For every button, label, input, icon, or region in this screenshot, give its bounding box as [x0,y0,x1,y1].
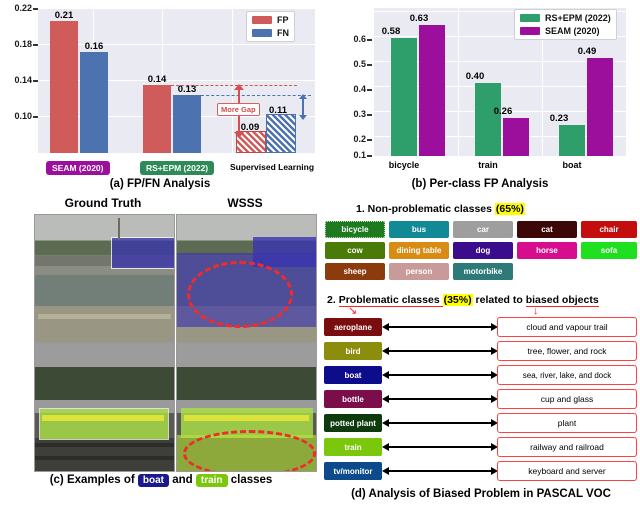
panel-c-tag-boat: boat [138,474,169,487]
gap-arrow-blue-head-up [299,94,307,99]
panel-d-section2-percent: (35%) [443,294,473,306]
legend-item-rsepm: RS+EPM (2022) [520,13,611,23]
bar-b-train-seam [503,118,529,156]
panel-a-ytick-1: 0.18 [0,39,32,49]
class-chip-bus: bus [389,221,449,238]
value-b-boat-seam: 0.49 [569,46,605,57]
more-gap-arrow-red-head-up [234,84,244,90]
legend-swatch-fn [252,29,272,37]
bias-arrow-train [388,446,492,448]
legend-item-fn: FN [252,28,289,38]
bias-arrow-tv-monitor [388,470,492,472]
more-gap-annotation: More Gap [217,103,260,116]
class-chip-car: car [453,221,513,238]
bias-arrow-boat [388,374,492,376]
xlabel-a-seam-tag: SEAM (2020) [46,161,110,175]
panel-d-section1-title: 1. Non-problematic classes (65%) [356,203,525,215]
image-train-ground-truth [34,343,175,472]
legend-label-seam: SEAM (2020) [545,26,600,36]
legend-item-fp: FP [252,15,289,25]
panel-a-ytick-3: 0.10 [0,111,32,121]
panel-c-caption-post: classes [228,474,273,486]
legend-swatch-rsepm [520,14,540,22]
panel-b-caption: (b) Per-class FP Analysis [320,178,640,190]
problem-class-bottle: bottle [324,390,382,408]
panel-a-fp-fn-analysis: More Gap 0.22 0.18 0.14 0.10 0.21 0.16 0… [0,0,320,192]
problem-class-bird: bird [324,342,382,360]
value-b-bicycle-seam: 0.63 [401,13,437,24]
value-b-train-seam: 0.26 [485,106,521,117]
panel-b-ytick-5: 0.1 [332,150,366,160]
problem-class-potted-plant: potted plant [324,414,382,432]
problem-class-aeroplane: aeroplane [324,318,382,336]
legend-swatch-fp [252,16,272,24]
class-chip-dog: dog [453,242,513,259]
xlabel-a-supervised: Supervised Learning [224,162,320,172]
value-a-sup-fp: 0.09 [232,122,268,133]
train-wsss-highlight-ellipse [183,430,317,472]
panel-c-header-wsss: WSSS [175,196,315,210]
class-chip-motorbike: motorbike [453,263,513,280]
legend-label-fn: FN [277,28,289,38]
panel-c-examples: Ground Truth WSSS (c) [0,196,322,508]
class-chip-horse: horse [517,242,577,259]
legend-swatch-seam [520,27,540,35]
value-b-bicycle-rsepm: 0.58 [373,26,409,37]
class-chip-cat: cat [517,221,577,238]
panel-d-bias-analysis: 1. Non-problematic classes (65%) bicycle… [322,196,640,508]
class-chip-cow: cow [325,242,385,259]
panel-d-section2-t3: related to [473,294,526,306]
bias-object-bird: tree, flower, and rock [497,341,637,361]
panel-c-header-ground-truth: Ground Truth [33,196,173,210]
bias-arrow-bottle [388,398,492,400]
legend-label-rsepm: RS+EPM (2022) [545,13,611,23]
red-pointer-arrow-left: ↘ [348,306,357,317]
panel-d-caption: (d) Analysis of Biased Problem in PASCAL… [322,488,640,500]
panel-d-section2-t1: 2. [327,294,339,306]
bias-arrow-aeroplane [388,326,492,328]
xlabel-a-rsepm: RS+EPM (2022) [140,158,214,176]
class-chip-bicycle: bicycle [325,221,385,238]
problem-class-tv-monitor: tv/monitor [324,462,382,480]
class-chip-sheep: sheep [325,263,385,280]
panel-c-caption-pre: (c) Examples of [50,474,138,486]
bar-a-rsepm-fp [143,85,171,153]
xlabel-b-train: train [458,160,518,170]
bar-a-rsepm-fn [173,95,201,153]
panel-b-ytick-3: 0.3 [332,109,366,119]
value-a-sup-fn: 0.11 [260,105,296,116]
panel-a-ytick-2: 0.14 [0,75,32,85]
value-b-boat-rsepm: 0.23 [541,113,577,124]
gap-arrow-blue-head-down [299,115,307,120]
boat-wsss-mask-ship [253,237,316,267]
panel-b-ytick-1: 0.5 [332,59,366,69]
panel-d-section1-percent: (65%) [495,203,525,215]
class-chip-person: person [389,263,449,280]
problem-class-train: train [324,438,382,456]
bar-b-boat-seam [587,58,613,156]
bar-b-bicycle-rsepm [391,38,417,156]
gap-dash-line-fn [201,95,311,96]
panel-d-section1-prefix: 1. Non-problematic classes [356,203,495,215]
panel-a-legend: FP FN [246,11,295,42]
boat-gt-mask [111,237,174,269]
bias-arrow-bird [388,350,492,352]
problem-class-boat: boat [324,366,382,384]
bias-object-boat: sea, river, lake, and dock [497,365,637,385]
class-chip-dining-table: dining table [389,242,449,259]
bias-object-aeroplane: cloud and vapour trail [497,317,637,337]
train-gt-mask [39,408,169,440]
panel-b-ytick-4: 0.2 [332,134,366,144]
boat-wsss-highlight-ellipse [187,261,293,328]
bias-object-train: railway and railroad [497,437,637,457]
bar-b-bicycle-seam [419,25,445,156]
value-a-seam-fn: 0.16 [76,41,112,52]
bias-arrow-potted-plant [388,422,492,424]
legend-label-fp: FP [277,15,289,25]
bar-b-train-rsepm [475,83,501,156]
red-pointer-arrow-right: ↓ [533,306,539,317]
bar-a-supervised-fn [266,114,296,153]
image-boat-ground-truth [34,214,175,343]
class-chip-chair: chair [581,221,637,238]
image-train-wsss [176,343,317,472]
legend-item-seam: SEAM (2020) [520,26,611,36]
panel-c-caption-mid: and [169,474,196,486]
panel-b-ytick-2: 0.4 [332,84,366,94]
bias-object-tv-monitor: keyboard and server [497,461,637,481]
xlabel-a-rsepm-tag: RS+EPM (2022) [140,161,214,175]
panel-c-caption: (c) Examples of boat and train classes [0,474,322,487]
panel-d-section2-title: 2. Problematic classes (35%) related to … [327,294,599,306]
xlabel-a-seam: SEAM (2020) [46,158,110,176]
panel-b-per-class-fp-analysis: 0.6 0.5 0.4 0.3 0.2 0.1 0.58 0.63 0.40 0… [320,0,640,192]
class-chip-sofa: sofa [581,242,637,259]
panel-b-ytick-0: 0.6 [332,34,366,44]
bar-b-boat-rsepm [559,125,585,156]
bias-object-bottle: cup and glass [497,389,637,409]
xlabel-b-bicycle: bicycle [374,160,434,170]
bar-a-seam-fp [50,21,78,153]
bar-a-seam-fn [80,52,108,153]
image-boat-wsss [176,214,317,343]
panel-b-legend: RS+EPM (2022) SEAM (2020) [514,9,617,40]
value-a-rsepm-fn: 0.13 [169,84,205,95]
value-a-seam-fp: 0.21 [46,10,82,21]
panel-a-ytick-0: 0.22 [0,3,32,13]
value-b-train-rsepm: 0.40 [457,71,493,82]
bias-object-potted-plant: plant [497,413,637,433]
xlabel-b-boat: boat [542,160,602,170]
gap-arrow-blue [302,98,304,116]
panel-a-caption: (a) FP/FN Analysis [0,178,320,190]
panel-c-tag-train: train [196,474,228,487]
